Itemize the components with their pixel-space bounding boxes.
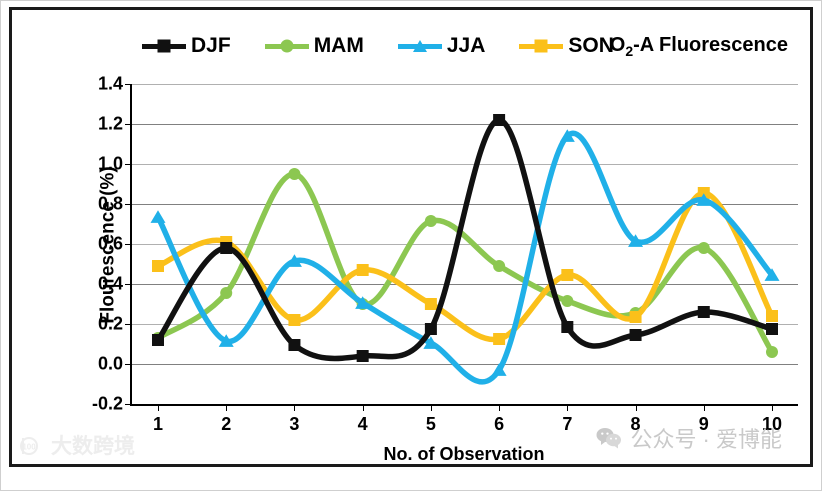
x-tick-mark bbox=[158, 404, 159, 411]
legend-swatch-jja bbox=[398, 44, 442, 49]
data-point-djf bbox=[220, 242, 232, 254]
data-point-mam bbox=[425, 215, 437, 227]
y-tick-label: 0.6 bbox=[98, 234, 123, 255]
data-point-djf bbox=[425, 323, 437, 335]
y-tick-label: 0.4 bbox=[98, 274, 123, 295]
y-tick-label: 1.0 bbox=[98, 154, 123, 175]
data-point-mam bbox=[493, 260, 505, 272]
watermark-brand: 100 大数跨境 bbox=[20, 430, 135, 460]
x-tick-label: 4 bbox=[358, 414, 368, 435]
data-point-djf bbox=[357, 350, 369, 362]
data-point-djf bbox=[630, 329, 642, 341]
y-tick-label: -0.2 bbox=[92, 394, 123, 415]
data-point-djf bbox=[493, 114, 505, 126]
y-tick-mark bbox=[125, 124, 132, 125]
y-tick-label: 1.2 bbox=[98, 114, 123, 135]
watermark-wechat: 公众号 · 爱博能 bbox=[596, 422, 782, 454]
y-tick-mark bbox=[125, 364, 132, 365]
data-point-son bbox=[766, 310, 778, 322]
x-tick-mark bbox=[704, 404, 705, 411]
data-point-mam bbox=[288, 168, 300, 180]
legend-item-djf[interactable]: DJF bbox=[142, 34, 231, 58]
legend-item-son[interactable]: SON bbox=[519, 34, 614, 58]
y-tick-mark bbox=[125, 84, 132, 85]
legend-label-djf: DJF bbox=[191, 34, 231, 58]
data-point-mam bbox=[220, 287, 232, 299]
x-tick-mark bbox=[226, 404, 227, 411]
chart-title-subscript: 2 bbox=[625, 43, 633, 59]
brand-logo-icon: 100 bbox=[20, 434, 46, 456]
x-tick-mark bbox=[363, 404, 364, 411]
chart-screenshot: DJFMAMJJASON O2-A Fluorescence Flouresce… bbox=[0, 0, 822, 491]
data-point-djf bbox=[288, 339, 300, 351]
data-point-son bbox=[288, 314, 300, 326]
legend-marker-triangle-icon bbox=[413, 40, 427, 52]
x-tick-mark bbox=[772, 404, 773, 411]
x-tick-label: 2 bbox=[221, 414, 231, 435]
y-tick-mark bbox=[125, 324, 132, 325]
data-point-djf bbox=[561, 321, 573, 333]
chart-frame: DJFMAMJJASON O2-A Fluorescence Flouresce… bbox=[9, 7, 813, 467]
data-point-mam bbox=[561, 295, 573, 307]
chart-title-rest: -A Fluorescence bbox=[633, 34, 788, 56]
plot-area: 1.41.21.00.80.60.40.20.0-0.212345678910 bbox=[130, 84, 798, 406]
x-tick-mark bbox=[636, 404, 637, 411]
y-tick-mark bbox=[125, 284, 132, 285]
data-point-son bbox=[630, 311, 642, 323]
data-point-jja bbox=[151, 210, 166, 223]
chart-title-main: O bbox=[610, 34, 626, 56]
data-point-mam bbox=[698, 242, 710, 254]
wechat-icon bbox=[596, 427, 622, 449]
legend-marker-circle-icon bbox=[280, 40, 293, 53]
x-tick-label: 7 bbox=[562, 414, 572, 435]
x-tick-mark bbox=[431, 404, 432, 411]
legend-label-mam: MAM bbox=[314, 34, 364, 58]
chart-title: O2-A Fluorescence bbox=[610, 34, 788, 59]
legend-marker-square-icon bbox=[158, 40, 171, 53]
data-point-son bbox=[561, 269, 573, 281]
legend-item-mam[interactable]: MAM bbox=[265, 34, 364, 58]
watermark-wechat-text: 公众号 · 爱博能 bbox=[630, 422, 782, 454]
y-tick-mark bbox=[125, 204, 132, 205]
y-tick-label: 0.0 bbox=[98, 354, 123, 375]
x-tick-label: 5 bbox=[426, 414, 436, 435]
legend-marker-square-icon bbox=[535, 40, 548, 53]
x-tick-label: 1 bbox=[153, 414, 163, 435]
legend-swatch-son bbox=[519, 44, 563, 49]
data-point-son bbox=[152, 260, 164, 272]
x-tick-mark bbox=[499, 404, 500, 411]
data-point-djf bbox=[152, 334, 164, 346]
legend-swatch-mam bbox=[265, 44, 309, 49]
x-tick-label: 6 bbox=[494, 414, 504, 435]
chart-legend: DJFMAMJJASON bbox=[142, 34, 614, 58]
series-canvas bbox=[132, 84, 798, 404]
legend-label-son: SON bbox=[568, 34, 614, 58]
y-tick-label: 0.2 bbox=[98, 314, 123, 335]
data-point-djf bbox=[698, 306, 710, 318]
y-tick-mark bbox=[125, 404, 132, 405]
x-tick-mark bbox=[294, 404, 295, 411]
legend-swatch-djf bbox=[142, 44, 186, 49]
legend-item-jja[interactable]: JJA bbox=[398, 34, 486, 58]
watermark-brand-text: 大数跨境 bbox=[51, 430, 135, 460]
y-tick-label: 0.8 bbox=[98, 194, 123, 215]
x-tick-mark bbox=[567, 404, 568, 411]
y-tick-mark bbox=[125, 164, 132, 165]
y-tick-label: 1.4 bbox=[98, 74, 123, 95]
brand-logo-badge: 100 bbox=[22, 443, 36, 452]
legend-label-jja: JJA bbox=[447, 34, 486, 58]
y-tick-mark bbox=[125, 244, 132, 245]
data-point-mam bbox=[766, 346, 778, 358]
data-point-son bbox=[493, 333, 505, 345]
x-tick-label: 3 bbox=[289, 414, 299, 435]
data-point-son bbox=[357, 264, 369, 276]
data-point-djf bbox=[766, 323, 778, 335]
data-point-son bbox=[425, 298, 437, 310]
